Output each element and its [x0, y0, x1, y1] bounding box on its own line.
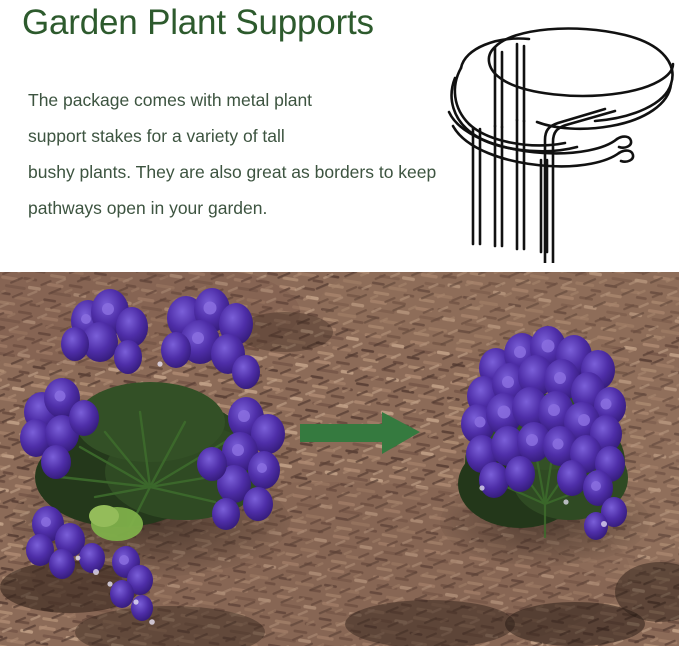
product-infographic-page: Garden Plant Supports The package comes … — [0, 0, 679, 646]
before-after-photo — [0, 272, 679, 646]
page-title: Garden Plant Supports — [22, 2, 374, 44]
garden-photo-svg — [0, 272, 679, 646]
wire-support-drawing-group — [449, 29, 673, 263]
metal-plant-support-illustration — [425, 8, 679, 263]
info-panel: Garden Plant Supports The package comes … — [0, 0, 679, 272]
